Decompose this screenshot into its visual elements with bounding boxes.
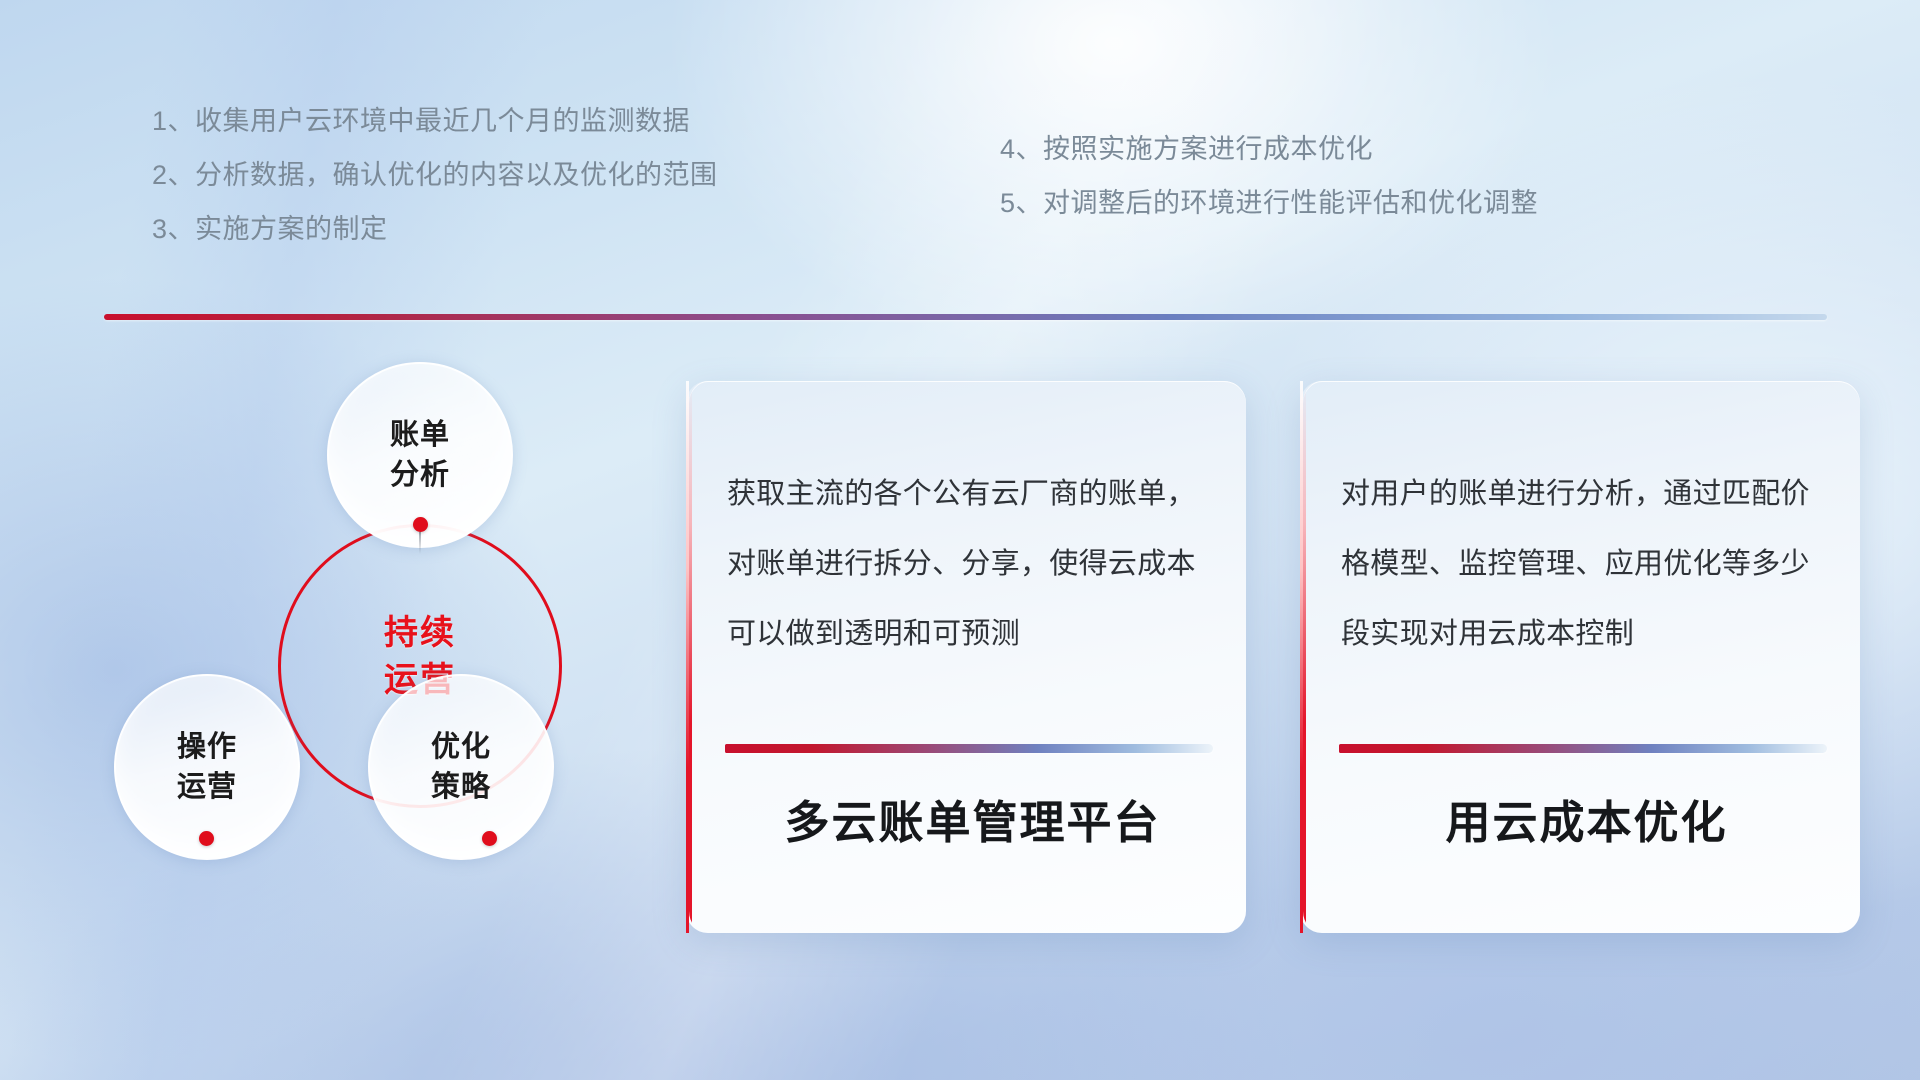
venn-connector-tick <box>419 532 421 554</box>
feature-card-body: 对用户的账单进行分析，通过匹配价格模型、监控管理、应用优化等多少段实现对用云成本… <box>1341 459 1830 669</box>
feature-card-title: 多云账单管理平台 <box>725 786 1220 851</box>
venn-bubble-label: 账单 分析 <box>390 415 450 495</box>
venn-bubble-label-line2: 策略 <box>431 771 491 803</box>
feature-card-cost-optimization[interactable]: 对用户的账单进行分析，通过匹配价格模型、监控管理、应用优化等多少段实现对用云成本… <box>1300 381 1860 933</box>
venn-bubble-optimization-strategy[interactable]: 优化 策略 <box>368 674 554 860</box>
venn-bubble-label-line1: 操作 <box>177 731 237 763</box>
feature-card-title: 用云成本优化 <box>1339 786 1834 851</box>
feature-card-rule <box>1339 744 1827 753</box>
venn-node-dot-left <box>199 831 214 846</box>
venn-node-dot-top <box>413 517 428 532</box>
step-item-1: 1、收集用户云环境中最近几个月的监测数据 <box>152 94 718 148</box>
step-item-5: 5、对调整后的环境进行性能评估和优化调整 <box>1000 176 1538 230</box>
venn-center-label-line1: 持续 <box>384 614 456 652</box>
feature-card-body: 获取主流的各个公有云厂商的账单，对账单进行拆分、分享，使得云成本可以做到透明和可… <box>727 459 1216 669</box>
venn-bubble-label-line2: 分析 <box>390 459 450 491</box>
venn-bubble-label: 操作 运营 <box>177 727 237 807</box>
venn-bubble-label-line1: 优化 <box>431 731 491 763</box>
venn-bubble-label-line1: 账单 <box>390 419 450 451</box>
venn-bubble-label-line2: 运营 <box>177 771 237 803</box>
steps-right-column: 4、按照实施方案进行成本优化 5、对调整后的环境进行性能评估和优化调整 <box>1000 122 1538 230</box>
venn-bubble-label: 优化 策略 <box>431 727 491 807</box>
section-divider <box>104 314 1827 320</box>
feature-card-rule <box>725 744 1213 753</box>
step-item-3: 3、实施方案的制定 <box>152 202 718 256</box>
step-item-4: 4、按照实施方案进行成本优化 <box>1000 122 1538 176</box>
steps-left-column: 1、收集用户云环境中最近几个月的监测数据 2、分析数据，确认优化的内容以及优化的… <box>152 94 718 256</box>
feature-card-multicloud-billing[interactable]: 获取主流的各个公有云厂商的账单，对账单进行拆分、分享，使得云成本可以做到透明和可… <box>686 381 1246 933</box>
slide-canvas: 1、收集用户云环境中最近几个月的监测数据 2、分析数据，确认优化的内容以及优化的… <box>0 0 1920 1080</box>
venn-diagram: 持续 运营 账单 分析 操作 运营 优化 策略 <box>96 348 616 948</box>
venn-node-dot-right <box>482 831 497 846</box>
step-item-2: 2、分析数据，确认优化的内容以及优化的范围 <box>152 148 718 202</box>
